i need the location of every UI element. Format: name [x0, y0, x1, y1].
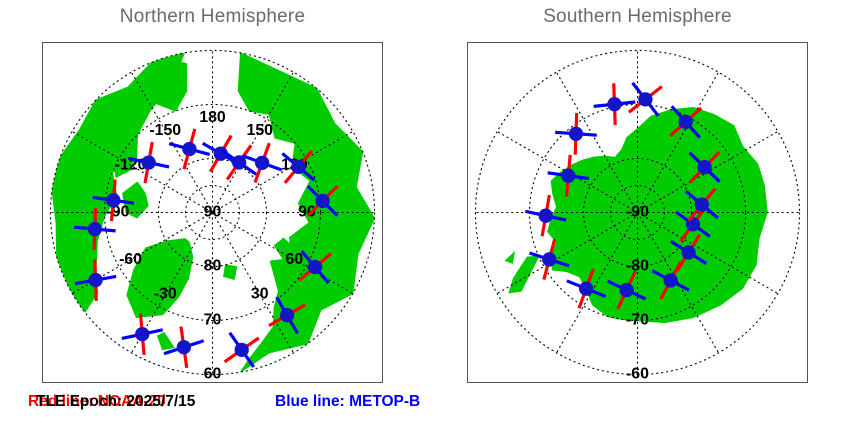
sno-marker[interactable]: [619, 283, 633, 297]
lon-label--60: -60: [119, 251, 142, 268]
lat-label-80: 80: [204, 258, 222, 275]
sno-marker[interactable]: [579, 281, 593, 295]
polar-plot-svg-south: -90-80-70-60306090120150180-150-120-90-6…: [468, 43, 807, 382]
sno-marker[interactable]: [681, 245, 695, 259]
lat-label--90: -90: [626, 204, 649, 221]
lat-label-70: 70: [204, 312, 222, 329]
sno-marker[interactable]: [569, 127, 583, 141]
polar-plot-north[interactable]: 90807060306090120150180-150-120-90-60-30: [42, 42, 383, 383]
sno-marker[interactable]: [561, 169, 575, 183]
lon-label--30: -30: [154, 286, 177, 303]
sno-marker[interactable]: [638, 92, 652, 106]
lat-label-60: 60: [204, 366, 222, 382]
sno-marker[interactable]: [539, 209, 553, 223]
sno-marker[interactable]: [88, 273, 102, 287]
lon-label-180: 180: [199, 109, 226, 126]
panel-title-south: Southern Hemisphere: [425, 6, 850, 28]
lon-label--150: -150: [149, 122, 181, 139]
sno-marker[interactable]: [182, 142, 196, 156]
sno-marker[interactable]: [542, 252, 556, 266]
sno-marker[interactable]: [280, 308, 294, 322]
sno-marker[interactable]: [695, 197, 709, 211]
sno-marker[interactable]: [698, 160, 712, 174]
sno-marker[interactable]: [141, 155, 155, 169]
panel-title-north: Northern Hemisphere: [0, 6, 425, 28]
sno-marker[interactable]: [135, 327, 149, 341]
sno-marker[interactable]: [177, 340, 191, 354]
sno-marker[interactable]: [255, 156, 269, 170]
lon-label-30: 30: [251, 286, 269, 303]
lat-label--80: -80: [626, 258, 649, 275]
sno-marker[interactable]: [235, 343, 249, 357]
sno-marker[interactable]: [291, 160, 305, 174]
sno-marker[interactable]: [607, 97, 621, 111]
southern-hemisphere-panel: Southern Hemisphere -90-80-70-6030609012…: [425, 0, 850, 425]
sno-marker[interactable]: [679, 115, 693, 129]
legend-metopb: Blue line: METOP-B: [275, 393, 420, 411]
sno-marker[interactable]: [315, 194, 329, 208]
lat-label-90: 90: [204, 204, 222, 221]
polar-plot-south[interactable]: -90-80-70-60306090120150180-150-120-90-6…: [467, 42, 808, 383]
lat-label--60: -60: [626, 366, 649, 382]
sno-marker[interactable]: [106, 193, 120, 207]
sno-marker[interactable]: [663, 273, 677, 287]
lon-label-60: 60: [286, 251, 304, 268]
tle-epoch-label: TLE Epoch: 2025/7/15: [36, 393, 195, 411]
polar-plot-svg-north: 90807060306090120150180-150-120-90-60-30: [43, 43, 382, 382]
lat-label--70: -70: [626, 312, 649, 329]
sno-marker[interactable]: [88, 222, 102, 236]
northern-hemisphere-panel: Northern Hemisphere 90807060306090120150…: [0, 0, 425, 425]
lon-label-150: 150: [247, 122, 274, 139]
sno-marker[interactable]: [308, 260, 322, 274]
